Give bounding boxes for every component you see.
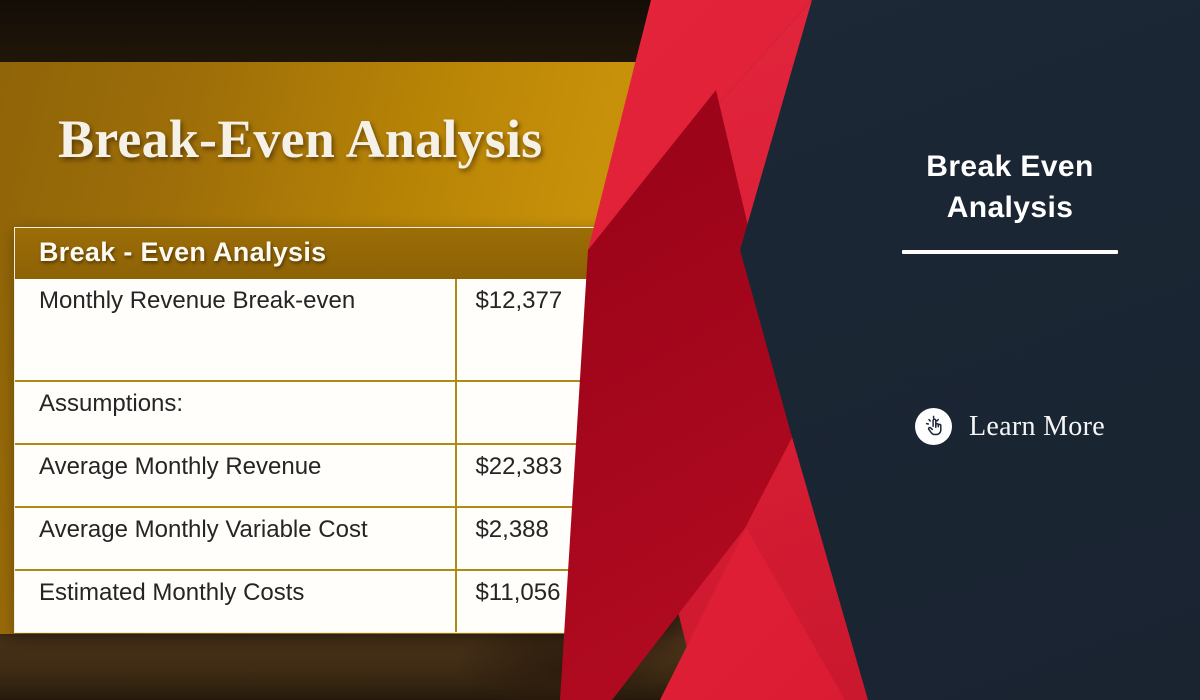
row-label: Average Monthly Variable Cost <box>15 507 456 570</box>
table-header-row: Break - Even Analysis <box>15 228 617 279</box>
panel-title-line-2: Analysis <box>875 187 1145 228</box>
table-row: Average Monthly Variable Cost $2,388 <box>15 507 617 570</box>
table-header-title: Break - Even Analysis <box>15 228 617 279</box>
break-even-table-element: Break - Even Analysis Monthly Revenue Br… <box>15 228 617 632</box>
break-even-table: Break - Even Analysis Monthly Revenue Br… <box>14 227 618 633</box>
table-row: Assumptions: <box>15 381 617 444</box>
row-label: Average Monthly Revenue <box>15 444 456 507</box>
table-body: Monthly Revenue Break-even $12,377 Assum… <box>15 279 617 632</box>
row-label: Estimated Monthly Costs <box>15 570 456 632</box>
table-row: Estimated Monthly Costs $11,056 <box>15 570 617 632</box>
row-label: Monthly Revenue Break-even <box>15 279 456 381</box>
panel-title: Break Even Analysis <box>875 146 1145 228</box>
table-row: Monthly Revenue Break-even $12,377 <box>15 279 617 381</box>
table-row: Average Monthly Revenue $22,383 <box>15 444 617 507</box>
panel-title-line-1: Break Even <box>875 146 1145 187</box>
row-label: Assumptions: <box>15 381 456 444</box>
slide-canvas: Break-Even Analysis Break - Even Analysi… <box>0 0 1200 700</box>
card-heading: Break-Even Analysis <box>58 108 542 170</box>
table-head: Break - Even Analysis <box>15 228 617 279</box>
learn-more-label: Learn More <box>969 411 1105 443</box>
tap-hand-icon <box>915 408 952 445</box>
learn-more-button[interactable]: Learn More <box>915 408 1105 445</box>
